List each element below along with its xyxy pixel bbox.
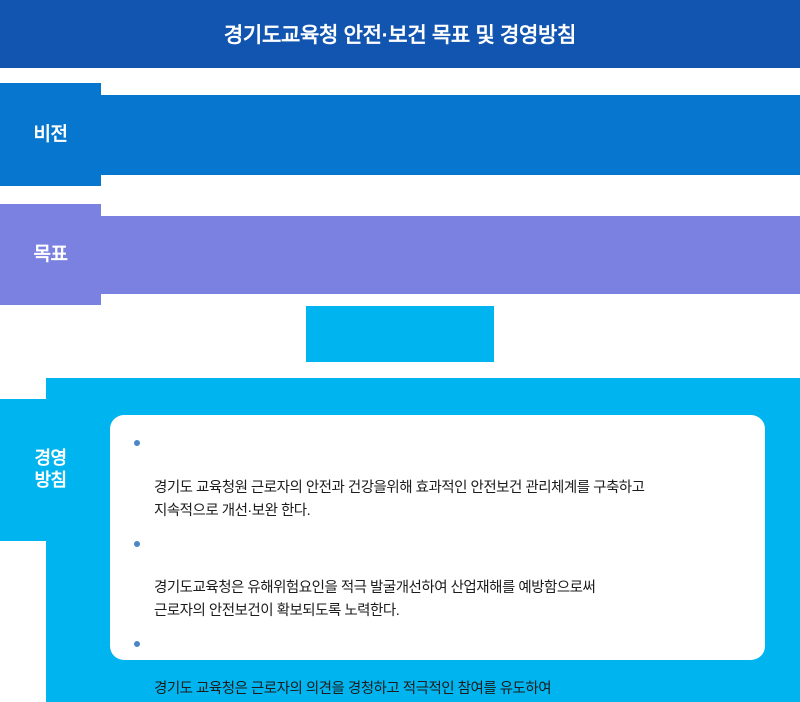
policy-item-text: 경기도교육청은 유해위험요인을 적극 발굴개선하여 산업재해를 예방함으로써 근… (154, 580, 595, 619)
bullet-icon (134, 541, 140, 547)
vision-label-text: 비전 (34, 123, 68, 146)
safety-health-policy-infographic: 경기도교육청 안전·보건 목표 및 경영방침 비전 목표 경영 방침 경기도 교… (0, 0, 800, 702)
policy-item-text: 경기도 교육청원 근로자의 안전과 건강을위해 효과적인 안전보건 관리체계를 … (154, 480, 644, 519)
vision-band (101, 95, 800, 175)
header-bar: 경기도교육청 안전·보건 목표 및 경영방침 (0, 0, 800, 68)
vision-label: 비전 (0, 83, 101, 186)
policy-label-line1: 경영 (34, 448, 66, 470)
policy-panel-top (46, 378, 800, 401)
list-item: 경기도교육청은 유해위험요인을 적극 발굴개선하여 산업재해를 예방함으로써 근… (128, 532, 743, 624)
list-item: 경기도 교육청원 근로자의 안전과 건강을위해 효과적인 안전보건 관리체계를 … (128, 431, 743, 523)
policy-label: 경영 방침 (0, 399, 101, 541)
goal-label: 목표 (0, 204, 101, 305)
page-title: 경기도교육청 안전·보건 목표 및 경영방침 (224, 19, 576, 49)
list-item: 경기도 교육청은 근로자의 의견을 경청하고 적극적인 참여를 유도하여 안전문… (128, 632, 743, 702)
goal-band (101, 216, 800, 294)
bullet-icon (134, 440, 140, 446)
policy-item-text: 경기도 교육청은 근로자의 의견을 경청하고 적극적인 참여를 유도하여 안전문… (154, 681, 551, 702)
accent-connector-box (306, 306, 494, 362)
bullet-icon (134, 641, 140, 647)
policy-card: 경기도 교육청원 근로자의 안전과 건강을위해 효과적인 안전보건 관리체계를 … (110, 415, 765, 660)
goal-content (101, 216, 800, 294)
vision-content (101, 95, 800, 175)
goal-label-text: 목표 (34, 243, 68, 266)
policy-list: 경기도 교육청원 근로자의 안전과 건강을위해 효과적인 안전보건 관리체계를 … (128, 431, 743, 702)
policy-label-line2: 방침 (34, 470, 66, 492)
